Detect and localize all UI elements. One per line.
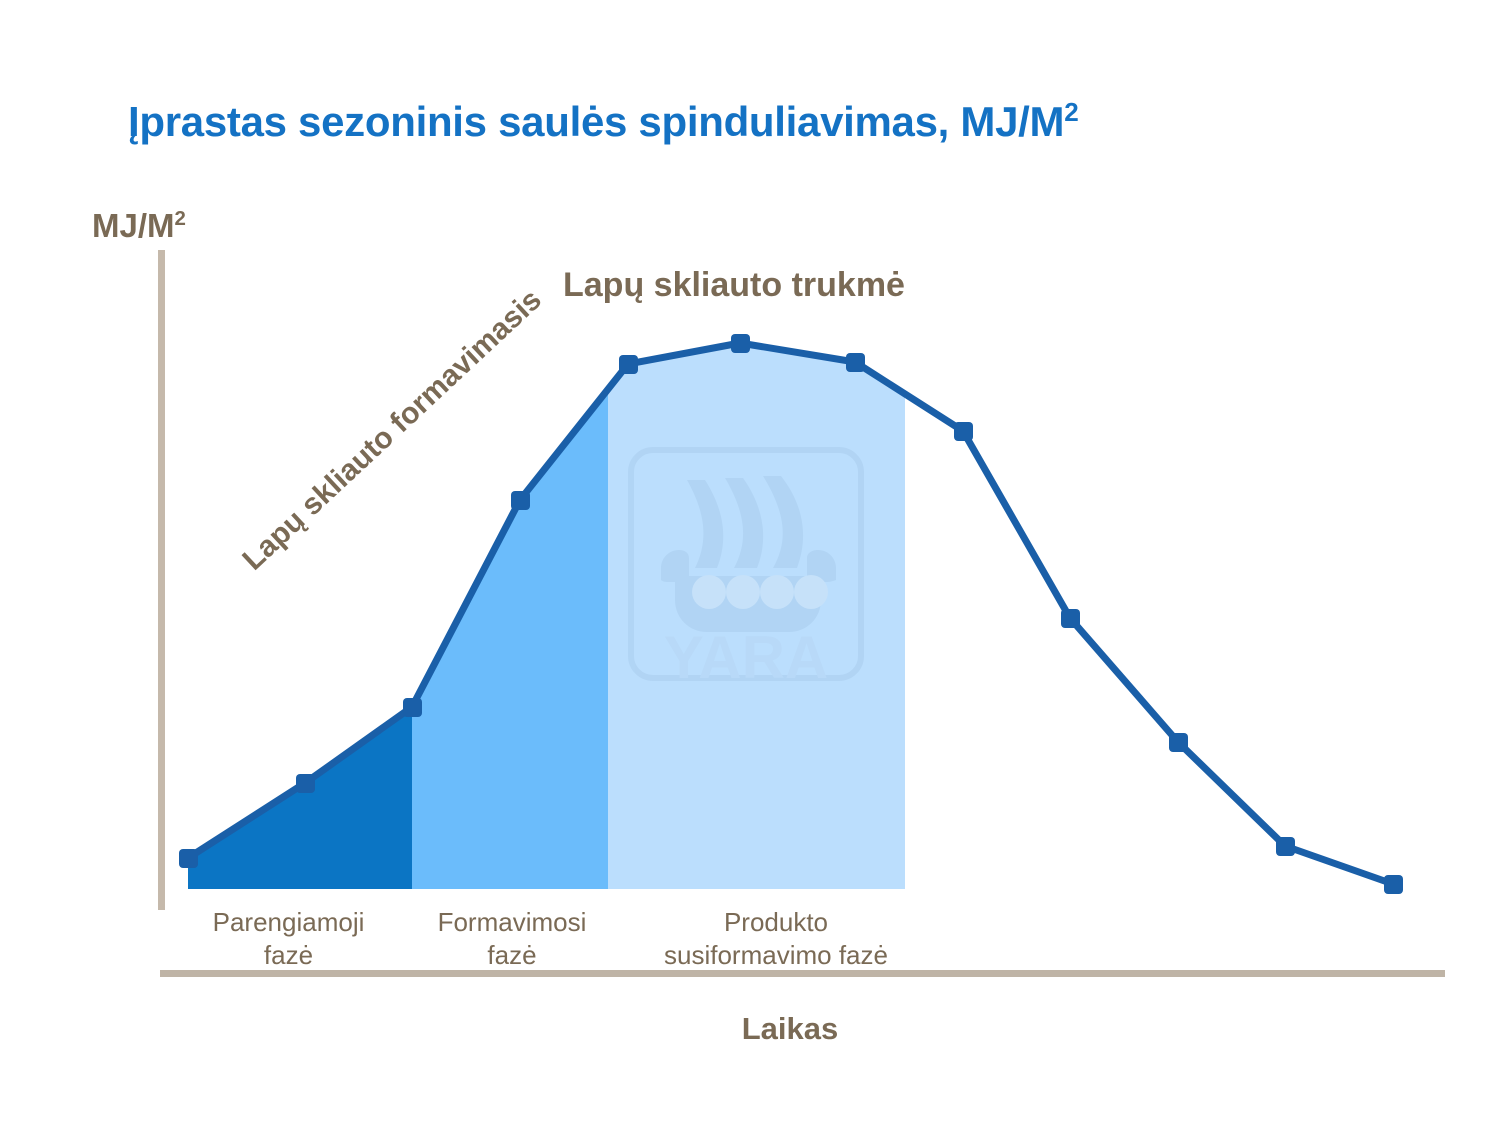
data-point[interactable] — [1384, 875, 1403, 894]
phase-label-line2: susiformavimo fazė — [626, 939, 926, 972]
data-point[interactable] — [1276, 837, 1295, 856]
data-point[interactable] — [846, 353, 865, 372]
data-point[interactable] — [296, 774, 315, 793]
x-axis-title: Laikas — [680, 1011, 900, 1047]
phase-label-line2: fazė — [417, 939, 607, 972]
phase-label-product-formation: Produkto susiformavimo fazė — [626, 906, 926, 971]
phase-label-line1: Produkto — [626, 906, 926, 939]
data-point[interactable] — [403, 698, 422, 717]
data-point[interactable] — [1061, 609, 1080, 628]
data-point[interactable] — [1169, 733, 1188, 752]
phase-label-line2: fazė — [196, 939, 381, 972]
data-point[interactable] — [179, 849, 198, 868]
slide-root: Įprastas sezoninis saulės spinduliavimas… — [0, 0, 1500, 1125]
data-point[interactable] — [619, 355, 638, 374]
phase-label-line1: Parengiamoji — [196, 906, 381, 939]
phase-label-line1: Formavimosi — [417, 906, 607, 939]
watermark-brand-text: YARA — [664, 624, 829, 691]
data-point[interactable] — [511, 491, 530, 510]
phase-label-formation: Formavimosi fazė — [417, 906, 607, 971]
phase-label-preparatory: Parengiamoji fazė — [196, 906, 381, 971]
canopy-duration-annotation: Lapų skliauto trukmė — [563, 266, 905, 305]
data-point[interactable] — [731, 334, 750, 353]
data-point[interactable] — [954, 422, 973, 441]
